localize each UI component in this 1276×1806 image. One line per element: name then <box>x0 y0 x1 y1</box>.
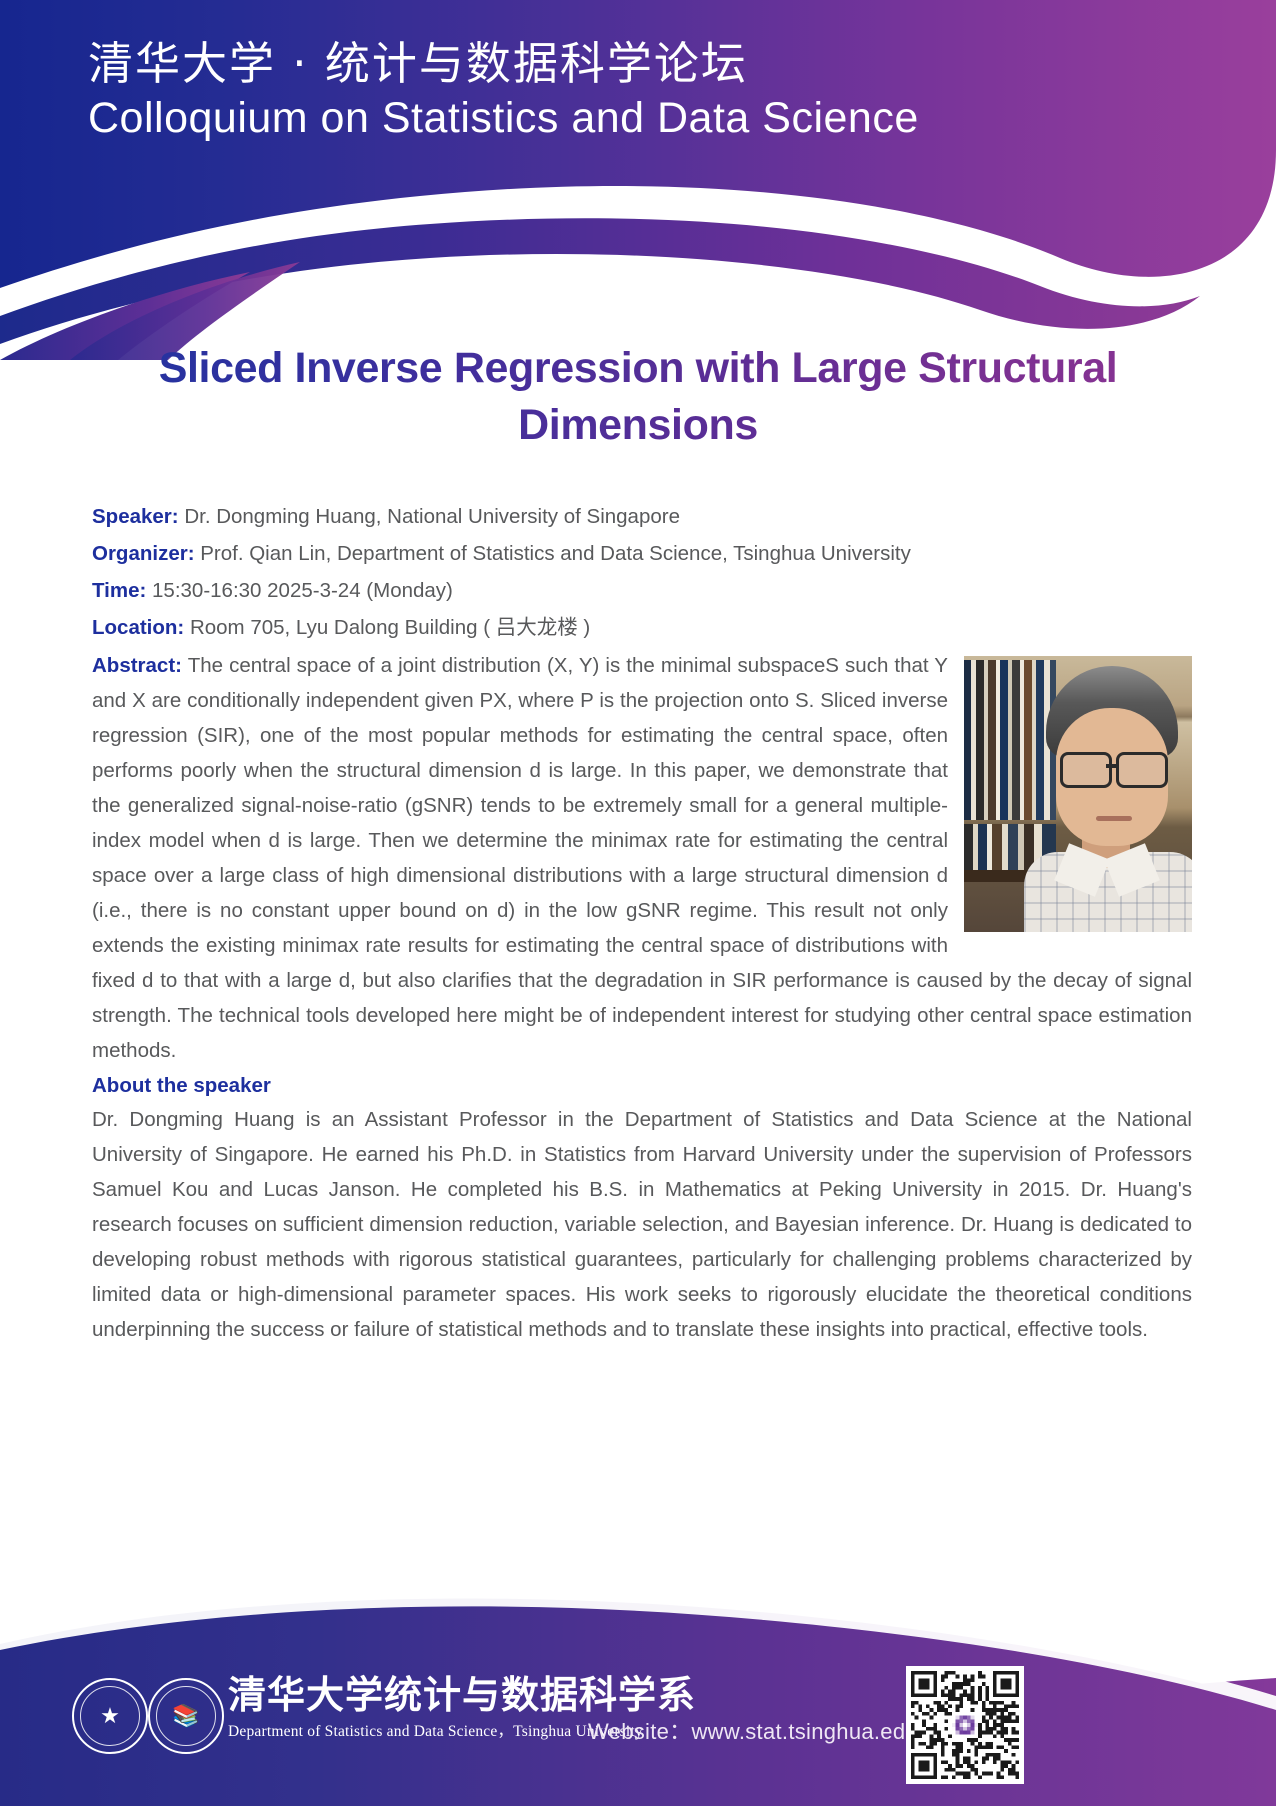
time-value: 15:30-16:30 2025-3-24 (Monday) <box>152 579 453 602</box>
tsinghua-university-seal-icon: ★ <box>72 1678 148 1754</box>
organizer-label: Organizer: <box>92 542 195 565</box>
forum-title-cn: 清华大学 · 统计与数据科学论坛 <box>88 36 1188 92</box>
speaker-photo <box>964 656 1192 932</box>
location-label: Location: <box>92 616 184 639</box>
location-value: Room 705, Lyu Dalong Building ( 吕大龙楼 ) <box>190 616 590 639</box>
forum-title-en: Colloquium on Statistics and Data Scienc… <box>88 94 1188 143</box>
organizer-value: Prof. Qian Lin, Department of Statistics… <box>200 542 911 565</box>
seal-book-glyph: 📚 <box>172 1705 199 1727</box>
poster-content: Speaker: Dr. Dongming Huang, National Un… <box>92 500 1192 1347</box>
department-seal-icon: 📚 <box>148 1678 224 1754</box>
meta-time: Time: 15:30-16:30 2025-3-24 (Monday) <box>92 574 1192 607</box>
meta-speaker: Speaker: Dr. Dongming Huang, National Un… <box>92 500 1192 533</box>
abstract-section: Abstract: The central space of a joint d… <box>92 648 1192 1068</box>
speaker-value: Dr. Dongming Huang, National University … <box>184 505 680 528</box>
website-label: Website： <box>588 1719 691 1744</box>
department-name-cn: 清华大学统计与数据科学系 <box>228 1676 696 1716</box>
about-speaker-heading: About the speaker <box>92 1074 1192 1098</box>
seal-star-glyph: ★ <box>100 1705 120 1727</box>
website-line: Website：www.stat.tsinghua.edu.cn <box>588 1714 948 1746</box>
talk-title: Sliced Inverse Regression with Large Str… <box>78 340 1198 454</box>
meta-organizer: Organizer: Prof. Qian Lin, Department of… <box>92 537 1192 570</box>
time-label: Time: <box>92 579 146 602</box>
qr-code[interactable] <box>906 1666 1024 1784</box>
meta-location: Location: Room 705, Lyu Dalong Building … <box>92 611 1192 644</box>
abstract-label: Abstract: <box>92 654 182 677</box>
footer-banner: ★ 📚 清华大学统计与数据科学系 Department of Statistic… <box>0 1546 1276 1806</box>
speaker-label: Speaker: <box>92 505 179 528</box>
about-speaker-text: Dr. Dongming Huang is an Assistant Profe… <box>92 1102 1192 1347</box>
qr-code-canvas <box>911 1671 1019 1779</box>
header-banner: 清华大学 · 统计与数据科学论坛 Colloquium on Statistic… <box>0 0 1276 360</box>
